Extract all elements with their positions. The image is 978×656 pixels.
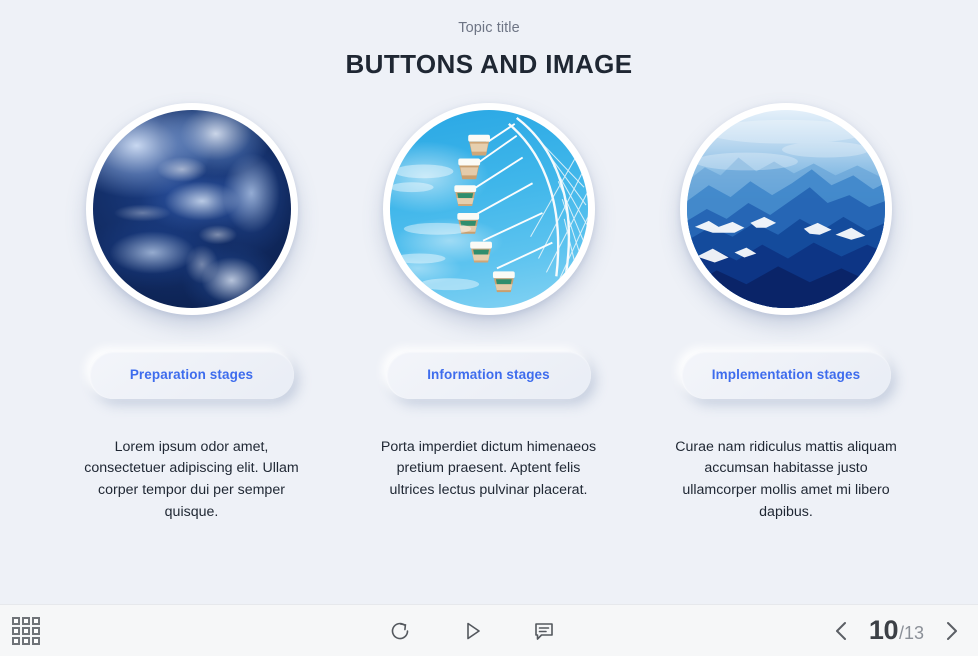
slide-canvas: Topic title BUTTONS AND IMAGE Preparatio… <box>0 0 978 604</box>
preparation-stages-button[interactable]: Preparation stages <box>89 351 294 399</box>
page-title: BUTTONS AND IMAGE <box>0 49 978 80</box>
column-information: Information stages Porta imperdiet dictu… <box>369 103 608 503</box>
blue-mountain-ridges-photo <box>687 110 885 308</box>
grid-cell <box>12 627 20 635</box>
image-frame-3 <box>680 103 892 315</box>
grid-icon[interactable] <box>12 617 40 645</box>
play-icon[interactable] <box>457 616 487 646</box>
columns-container: Preparation stages Lorem ipsum odor amet… <box>0 103 978 524</box>
grid-cell <box>32 637 40 645</box>
paragraph-information: Porta imperdiet dictum himenaeos pretium… <box>373 437 605 503</box>
toolbar-left-group <box>0 617 180 645</box>
paragraph-implementation: Curae nam ridiculus mattis aliquam accum… <box>666 437 906 524</box>
current-slide-number: 10 <box>869 615 898 646</box>
paragraph-preparation: Lorem ipsum odor amet, consectetuer adip… <box>76 437 308 524</box>
grid-cell <box>12 617 20 625</box>
replay-icon[interactable] <box>385 616 415 646</box>
toolbar-center-group <box>180 616 763 646</box>
grid-cell <box>22 637 30 645</box>
chevron-left-icon[interactable] <box>829 616 855 646</box>
ferris-wheel-blue-sky-photo <box>390 110 588 308</box>
column-preparation: Preparation stages Lorem ipsum odor amet… <box>72 103 311 524</box>
implementation-stages-button[interactable]: Implementation stages <box>681 351 891 399</box>
mountain-ridges-illustration <box>687 110 885 308</box>
player-toolbar: 10 /13 <box>0 604 978 656</box>
toolbar-right-group: 10 /13 <box>763 615 978 646</box>
page-counter: 10 /13 <box>869 615 924 646</box>
chevron-right-icon[interactable] <box>938 616 964 646</box>
grid-cell <box>22 627 30 635</box>
grid-cell <box>32 627 40 635</box>
topic-title: Topic title <box>0 20 978 37</box>
image-frame-2 <box>383 103 595 315</box>
notes-icon[interactable] <box>529 616 559 646</box>
column-implementation: Implementation stages Curae nam ridiculu… <box>666 103 906 524</box>
information-stages-button[interactable]: Information stages <box>386 351 591 399</box>
image-frame-1 <box>86 103 298 315</box>
grid-cell <box>12 637 20 645</box>
total-slides-number: /13 <box>899 623 924 644</box>
ferris-wheel-illustration <box>390 110 588 308</box>
grid-cell <box>32 617 40 625</box>
slide-header: Topic title BUTTONS AND IMAGE <box>0 0 978 81</box>
grid-cell <box>22 617 30 625</box>
blue-ink-in-water-photo <box>93 110 291 308</box>
